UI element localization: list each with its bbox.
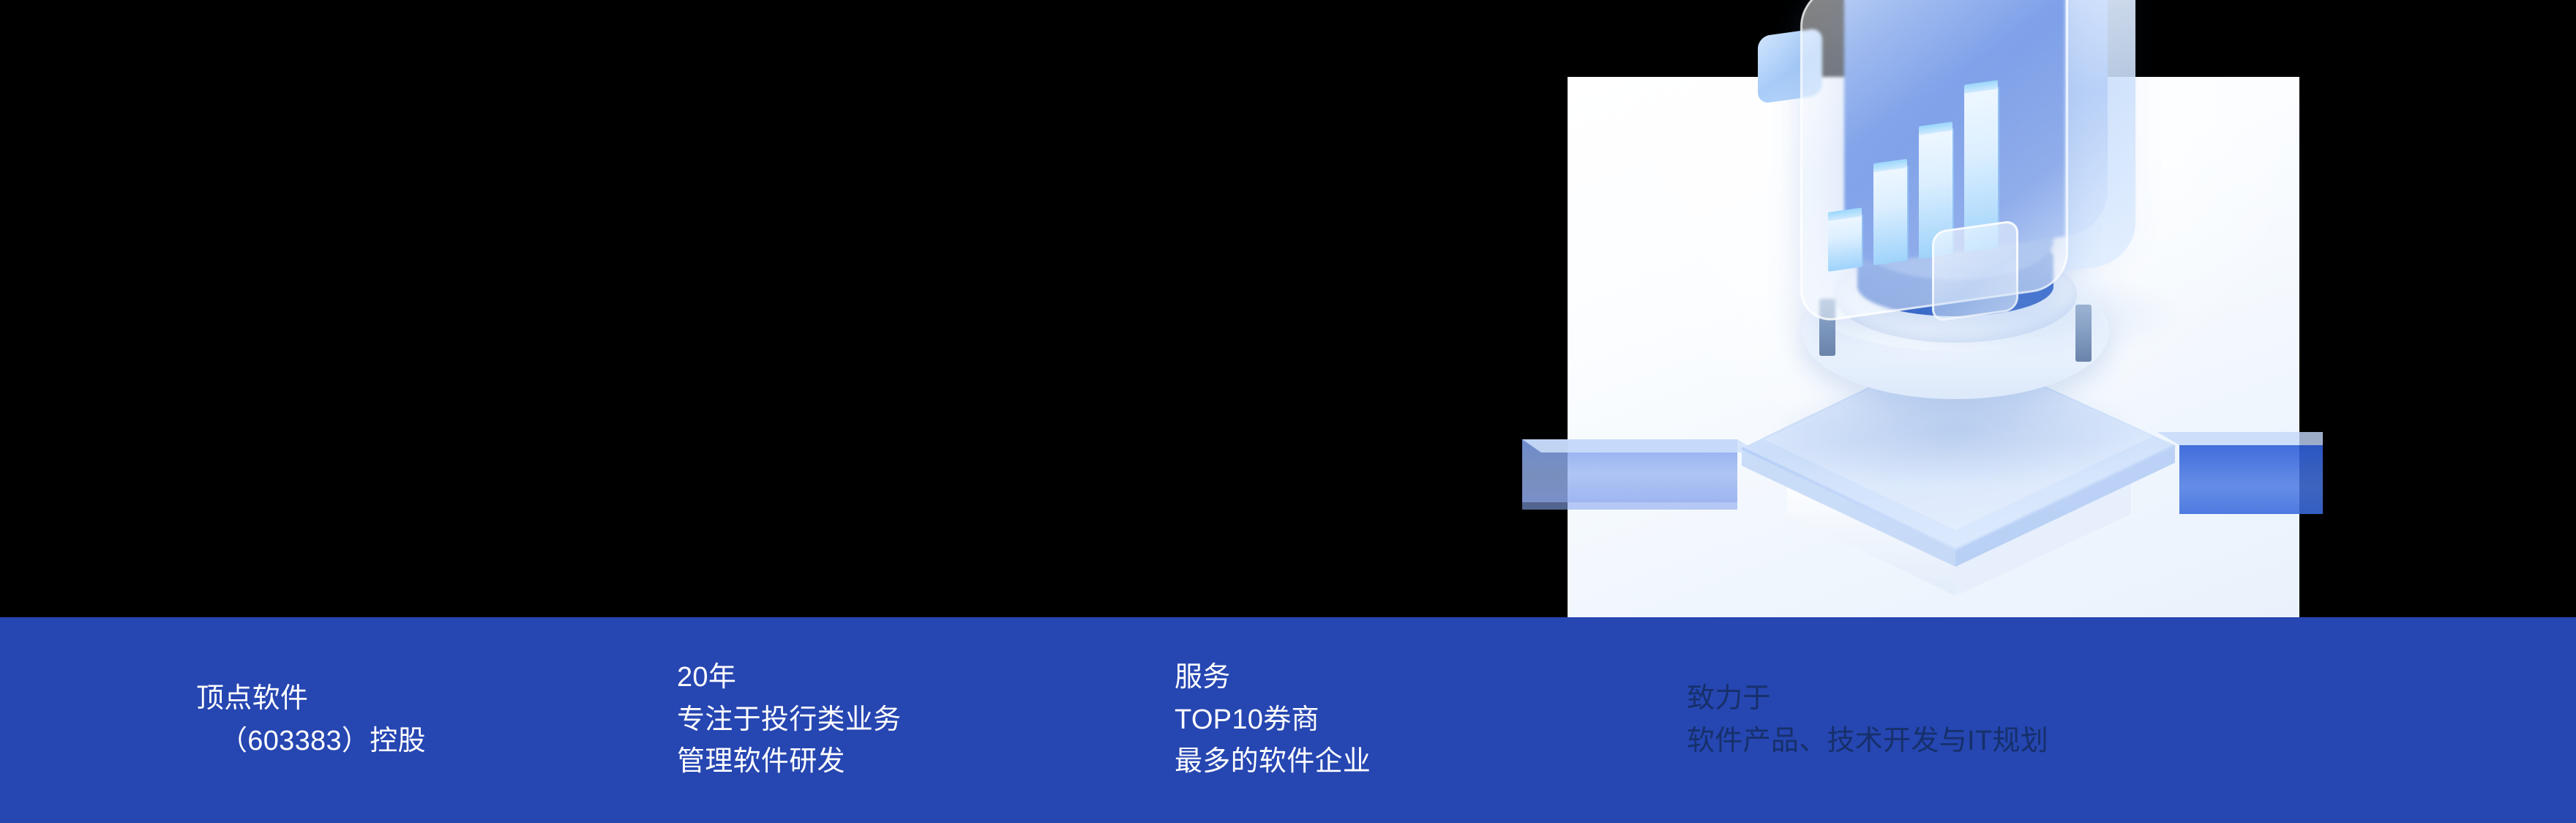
column-clients: 服务 TOP10券商 最多的软件企业 [1175, 617, 1555, 823]
company-line-2: （603383）控股 [196, 720, 438, 763]
experience-line-2: 专注于投行类业务 [677, 699, 1087, 742]
info-band-columns: 顶点软件 （603383）控股 20年 专注于投行类业务 管理软件研发 服务 T… [0, 617, 2576, 823]
column-mission: 致力于 软件产品、技术开发与IT规划 [1687, 617, 2272, 823]
column-experience: 20年 专注于投行类业务 管理软件研发 [677, 617, 1087, 823]
column-company: 顶点软件 （603383）控股 [196, 617, 438, 823]
mission-line-2: 软件产品、技术开发与IT规划 [1687, 720, 2272, 763]
clients-line-2: TOP10券商 [1175, 699, 1555, 742]
company-line-1: 顶点软件 [196, 678, 438, 720]
panel-glow [1568, 77, 2299, 510]
info-band: 顶点软件 （603383）控股 20年 专注于投行类业务 管理软件研发 服务 T… [0, 617, 2576, 823]
clients-line-1: 服务 [1175, 657, 1555, 699]
clients-line-3: 最多的软件企业 [1175, 741, 1555, 783]
experience-line-3: 管理软件研发 [677, 741, 1087, 783]
mission-line-1: 致力于 [1687, 678, 2272, 720]
hero-stage: 顶点软件 （603383）控股 20年 专注于投行类业务 管理软件研发 服务 T… [0, 0, 2576, 823]
experience-line-1: 20年 [677, 657, 1087, 699]
